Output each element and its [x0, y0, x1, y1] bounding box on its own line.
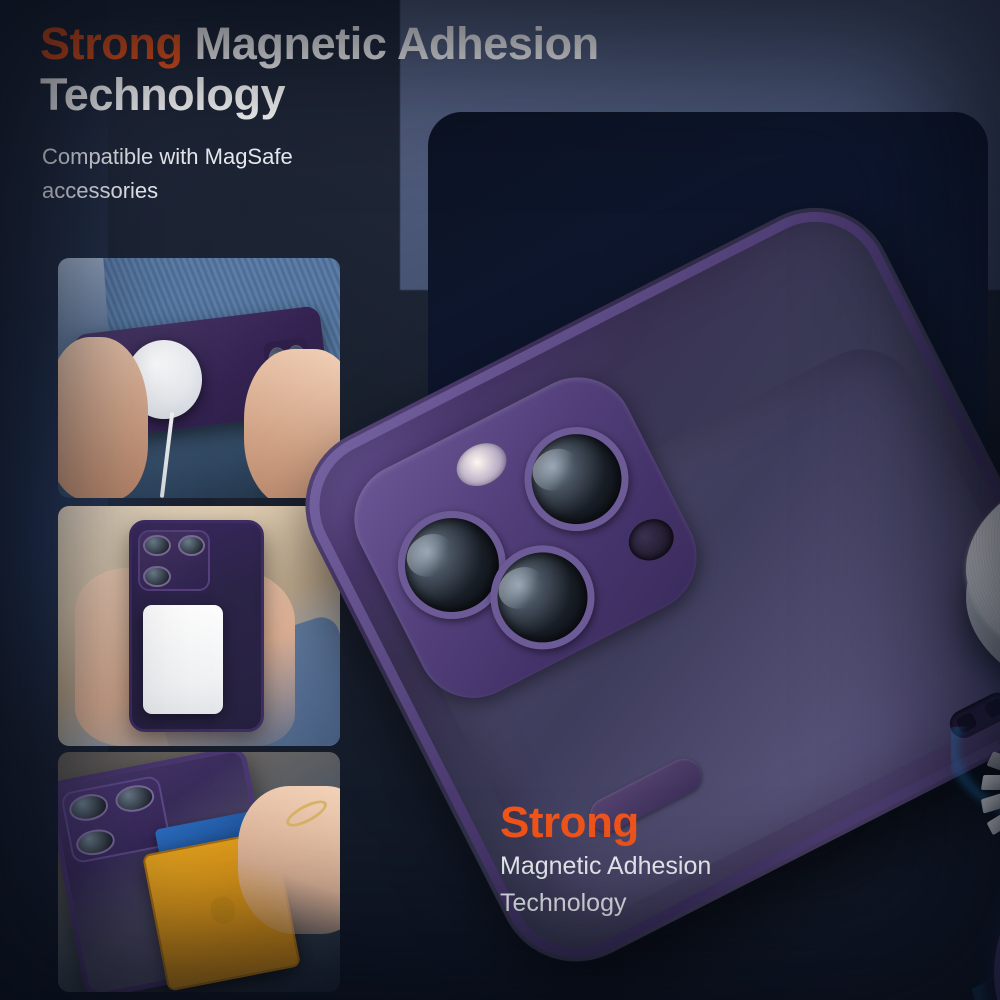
magnet-segment	[981, 793, 1000, 813]
thumb2-phone	[129, 520, 264, 731]
thumb2-camera-module	[138, 530, 210, 592]
subheadline: Compatible with MagSafe accessories	[42, 140, 442, 208]
subheadline-line-2: accessories	[42, 174, 442, 208]
thumbnail-magsafe-wallet[interactable]	[58, 752, 340, 992]
thumb3-apple-logo	[209, 895, 237, 926]
hero-camera-flash	[449, 435, 513, 494]
thumbnail-image-3	[58, 752, 340, 992]
product-feature-image: Strong Magnetic Adhesion Technology Comp…	[0, 0, 1000, 1000]
hero-lidar-sensor	[622, 512, 681, 569]
subheadline-line-1: Compatible with MagSafe	[42, 140, 442, 174]
magnet-segment	[981, 775, 1000, 790]
caption-line-2: Technology	[500, 887, 920, 920]
thumbnail-magsafe-battery[interactable]	[58, 506, 340, 746]
headline-emphasis: Strong	[40, 18, 183, 69]
thumb1-left-hand	[58, 337, 148, 498]
magnet-segment	[987, 812, 1000, 836]
magnet-segment	[986, 751, 1000, 771]
thumb2-battery-pack	[143, 605, 223, 714]
headline: Strong Magnetic Adhesion Technology	[40, 18, 740, 121]
thumb3-camera-module	[59, 775, 171, 864]
caption-emphasis: Strong	[500, 800, 920, 846]
hero-charger-puck	[962, 452, 1000, 720]
caption-line-1: Magnetic Adhesion	[500, 850, 920, 883]
thumbnail-image-2	[58, 506, 340, 746]
hero-camera-lens-tele	[507, 409, 647, 549]
caption: Strong Magnetic Adhesion Technology	[500, 800, 920, 920]
